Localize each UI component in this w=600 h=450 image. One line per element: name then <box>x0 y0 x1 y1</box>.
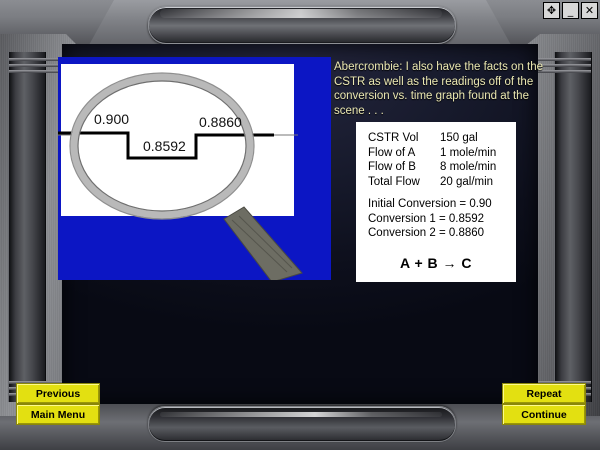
bottom-handle-highlight <box>160 412 442 417</box>
chart-trace: 0.900 0.8592 0.8860 <box>58 73 302 280</box>
table-row: Total Flow 20 gal/min <box>368 175 496 190</box>
param-value: 20 gal/min <box>440 175 493 190</box>
label-conversion-2: 0.8860 <box>199 114 242 130</box>
label-conversion-1: 0.8592 <box>143 138 186 154</box>
param-label: Total Flow <box>368 175 440 190</box>
magnifier-handle <box>224 207 302 280</box>
conversion-2: Conversion 2 = 0.8860 <box>368 226 492 241</box>
conversion-1: Conversion 1 = 0.8592 <box>368 212 492 227</box>
close-icon[interactable]: ✕ <box>581 2 598 19</box>
label-initial-conversion: 0.900 <box>94 111 129 127</box>
conversion-vs-time-figure: 0.900 0.8592 0.8860 <box>58 57 331 280</box>
previous-button[interactable]: Previous <box>16 383 100 404</box>
top-handle-highlight <box>160 9 442 18</box>
param-label: Flow of B <box>368 160 440 175</box>
left-bezel-pillar <box>8 52 46 402</box>
window-controls: ✥ _ ✕ <box>543 2 598 19</box>
reaction-equation: A + B → C <box>356 255 516 271</box>
table-row: CSTR Vol 150 gal <box>368 131 496 146</box>
parameter-table: CSTR Vol 150 gal Flow of A 1 mole/min Fl… <box>368 131 496 189</box>
right-bezel-pillar <box>554 52 592 402</box>
conversion-initial: Initial Conversion = 0.90 <box>368 197 492 212</box>
conversion-list: Initial Conversion = 0.90 Conversion 1 =… <box>368 197 492 241</box>
param-value: 150 gal <box>440 131 478 146</box>
repeat-button[interactable]: Repeat <box>502 383 586 404</box>
continue-button[interactable]: Continue <box>502 404 586 425</box>
param-label: Flow of A <box>368 146 440 161</box>
param-label: CSTR Vol <box>368 131 440 146</box>
narration-text: Abercrombie: I also have the facts on th… <box>334 60 550 118</box>
table-row: Flow of B 8 mole/min <box>368 160 496 175</box>
data-panel: CSTR Vol 150 gal Flow of A 1 mole/min Fl… <box>356 122 516 282</box>
param-value: 1 mole/min <box>440 146 496 161</box>
table-row: Flow of A 1 mole/min <box>368 146 496 161</box>
main-menu-button[interactable]: Main Menu <box>16 404 100 425</box>
minimize-icon[interactable]: _ <box>562 2 579 19</box>
param-value: 8 mole/min <box>440 160 496 175</box>
application-window: ✥ _ ✕ 0.900 0.8592 0.8 <box>0 0 600 450</box>
move-icon[interactable]: ✥ <box>543 2 560 19</box>
